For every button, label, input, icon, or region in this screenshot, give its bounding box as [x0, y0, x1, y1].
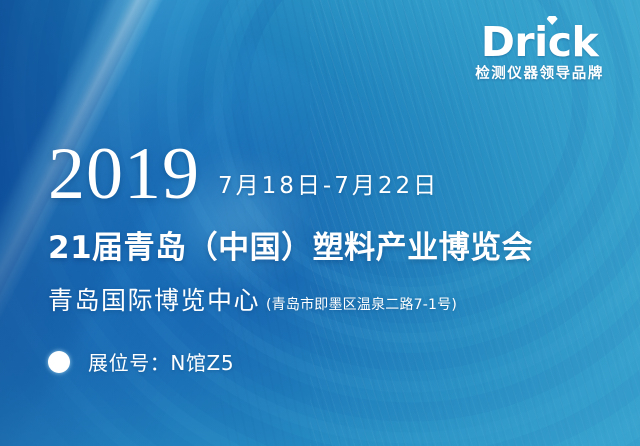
- venue-address: (青岛市即墨区温泉二路7-1号): [266, 294, 457, 314]
- venue-name: 青岛国际博览中心: [48, 281, 260, 317]
- brand-wordmark: Drick: [481, 22, 598, 63]
- circle-bullet-icon: [48, 351, 70, 373]
- brand-subtitle: 检测仪器领导品牌: [475, 67, 604, 82]
- event-title: 21届青岛（中国）塑料产业博览会: [48, 222, 608, 267]
- event-dates: 7月18日-7月22日: [218, 166, 439, 200]
- year-date-row: 2019 7月18日-7月22日: [48, 138, 608, 210]
- booth-number-label: 展位号：N馆Z5: [88, 347, 234, 376]
- exhibition-banner: Drick 检测仪器领导品牌 2019 7月18日-7月22日 21届青岛（中国…: [0, 0, 640, 446]
- booth-row: 展位号：N馆Z5: [48, 347, 608, 376]
- venue-row: 青岛国际博览中心 (青岛市即墨区温泉二路7-1号): [48, 281, 608, 317]
- event-year: 2019: [48, 138, 200, 210]
- banner-content: 2019 7月18日-7月22日 21届青岛（中国）塑料产业博览会 青岛国际博览…: [48, 138, 608, 376]
- brand-logo[interactable]: Drick 检测仪器领导品牌: [475, 22, 604, 82]
